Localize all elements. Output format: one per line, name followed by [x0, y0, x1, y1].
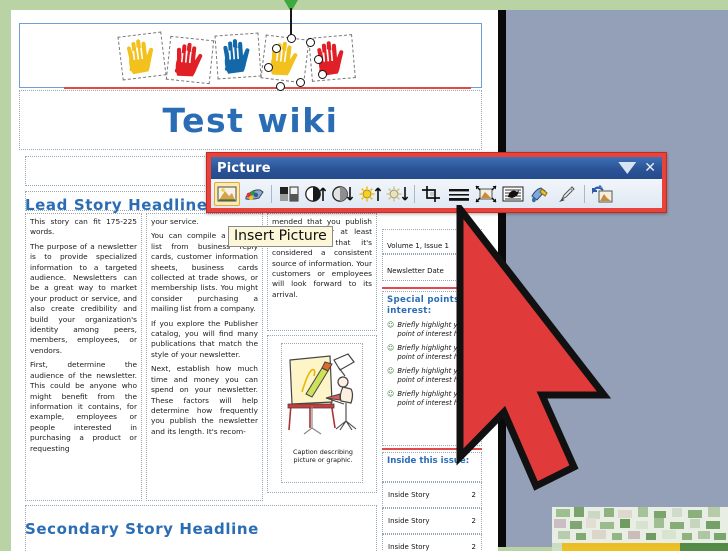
easel-artist-icon: [284, 346, 362, 442]
toc-row[interactable]: Inside Story 2: [382, 508, 482, 534]
text-wrapping-icon: [502, 185, 524, 203]
image-control-button[interactable]: [276, 182, 302, 206]
inside-this-issue-frame[interactable]: Inside this issue:: [382, 452, 482, 482]
bullet-icon: ☺: [387, 390, 394, 408]
toc-title: Inside Story: [388, 517, 472, 525]
bullet-icon: ☺: [387, 344, 394, 362]
less-brightness-button[interactable]: [384, 182, 410, 206]
color-icon: [243, 185, 265, 203]
handprint-image-2[interactable]: [166, 36, 214, 84]
hand-icon: [171, 39, 209, 80]
toc-row[interactable]: Inside Story 2: [382, 534, 482, 551]
image-selection-handles: [248, 0, 340, 96]
special-point-text: Briefly highlight your point of interest…: [397, 321, 477, 339]
insert-picture-tooltip: Insert Picture: [228, 226, 333, 247]
insert-picture-button[interactable]: [214, 182, 240, 206]
toc-page: 2: [472, 543, 476, 551]
format-picture-icon: [529, 185, 551, 203]
column2-para-3: If you explore the Publisher catalog, yo…: [151, 319, 258, 361]
set-transparent-color-icon: [556, 185, 578, 203]
picture-toolbar-titlebar[interactable]: Picture ✕: [211, 157, 662, 179]
toc-page: 2: [472, 517, 476, 525]
graphic-frame[interactable]: Caption describing picture or graphic.: [281, 343, 363, 483]
toc-row[interactable]: Inside Story 2: [382, 482, 482, 508]
toc-title: Inside Story: [388, 543, 472, 551]
sidebar-divider-bottom: [382, 448, 482, 450]
reset-picture-icon: [591, 185, 613, 203]
column1-para-1: This story can fit 175-225 words.: [30, 217, 137, 238]
special-point-text: Briefly highlight your point of interest…: [397, 390, 477, 408]
chevron-down-icon[interactable]: [618, 162, 636, 174]
sidebar-volume-text: Volume 1, Issue 1: [387, 242, 449, 250]
handprint-image-1[interactable]: [117, 31, 166, 80]
hand-icon: [123, 35, 161, 77]
resize-handle-top[interactable]: [287, 34, 296, 43]
special-point-item: ☺ Briefly highlight your point of intere…: [387, 344, 477, 362]
compress-pictures-button[interactable]: [473, 182, 499, 206]
masthead-title-frame[interactable]: Test wiki: [19, 90, 482, 150]
special-point-item: ☺ Briefly highlight your point of intere…: [387, 367, 477, 385]
insert-picture-icon: [217, 185, 237, 203]
resize-handle-bottom-left[interactable]: [276, 82, 285, 91]
bullet-icon: ☺: [387, 367, 394, 385]
special-point-item: ☺ Briefly highlight your point of intere…: [387, 390, 477, 408]
sidebar-volume-frame[interactable]: Volume 1, Issue 1: [382, 229, 482, 254]
special-point-item: ☺ Briefly highlight your point of intere…: [387, 321, 477, 339]
column1-para-2: The purpose of a newsletter is to provid…: [30, 242, 137, 356]
lead-story-headline: Lead Story Headline: [25, 196, 208, 214]
toc-title: Inside Story: [388, 491, 472, 499]
color-button[interactable]: [241, 182, 267, 206]
special-point-text: Briefly highlight your point of interest…: [397, 344, 477, 362]
screenshot-root: Test wiki Lead Story Headline This story…: [0, 0, 728, 551]
toolbar-separator: [271, 185, 272, 203]
inside-this-issue-title: Inside this issue:: [387, 456, 477, 466]
compress-pictures-icon: [475, 185, 497, 203]
format-picture-button[interactable]: [527, 182, 553, 206]
more-brightness-button[interactable]: [357, 182, 383, 206]
special-point-text: Briefly highlight your point of interest…: [397, 367, 477, 385]
more-contrast-button[interactable]: [303, 182, 329, 206]
close-icon[interactable]: ✕: [644, 162, 656, 174]
sidebar-divider-top: [382, 287, 482, 289]
toolbar-separator: [584, 185, 585, 203]
pixelated-watermark: [552, 507, 728, 551]
publisher-workspace: Test wiki Lead Story Headline This story…: [0, 0, 728, 551]
resize-handle-right[interactable]: [314, 55, 323, 64]
body-column-2[interactable]: your service. You can compile a mailing …: [146, 213, 263, 501]
reset-picture-button[interactable]: [589, 182, 615, 206]
text-wrapping-button[interactable]: [500, 182, 526, 206]
resize-handle-left[interactable]: [264, 63, 273, 72]
line-style-button[interactable]: [446, 182, 472, 206]
body-column-1[interactable]: This story can fit 175-225 words. The pu…: [25, 213, 142, 501]
toolbar-separator: [414, 185, 415, 203]
set-transparent-color-button[interactable]: [554, 182, 580, 206]
less-contrast-button[interactable]: [330, 182, 356, 206]
canvas-grey-area: [504, 10, 728, 547]
bullet-icon: ☺: [387, 321, 394, 339]
graphic-caption: Caption describing picture or graphic.: [285, 448, 361, 465]
sidebar-date-text: Newsletter Date: [387, 267, 444, 275]
special-points-title: Special points of interest:: [387, 295, 477, 317]
sidebar-date-frame[interactable]: Newsletter Date: [382, 254, 482, 281]
picture-toolbar-buttons: [211, 179, 662, 208]
crop-button[interactable]: [419, 182, 445, 206]
less-contrast-icon: [331, 185, 355, 203]
resize-handle-bottom[interactable]: [296, 78, 305, 87]
picture-toolbar[interactable]: Picture ✕: [206, 152, 667, 213]
resize-handle-top-left[interactable]: [272, 44, 281, 53]
more-contrast-icon: [304, 185, 328, 203]
resize-handle-bottom-right[interactable]: [318, 70, 327, 79]
less-brightness-icon: [385, 185, 409, 203]
picture-toolbar-title: Picture: [217, 161, 618, 176]
toc-page: 2: [472, 491, 476, 499]
image-control-icon: [279, 185, 299, 203]
secondary-story-headline: Secondary Story Headline: [25, 520, 259, 538]
column1-para-3: First, determine the audience of the new…: [30, 360, 137, 454]
crop-icon: [421, 185, 443, 203]
resize-handle-top-right[interactable]: [306, 38, 315, 47]
special-points-frame[interactable]: Special points of interest: ☺ Briefly hi…: [382, 291, 482, 446]
line-style-icon: [447, 185, 471, 203]
more-brightness-icon: [358, 185, 382, 203]
column2-para-4: Next, establish how much time and money …: [151, 364, 258, 437]
page-title: Test wiki: [163, 101, 339, 140]
